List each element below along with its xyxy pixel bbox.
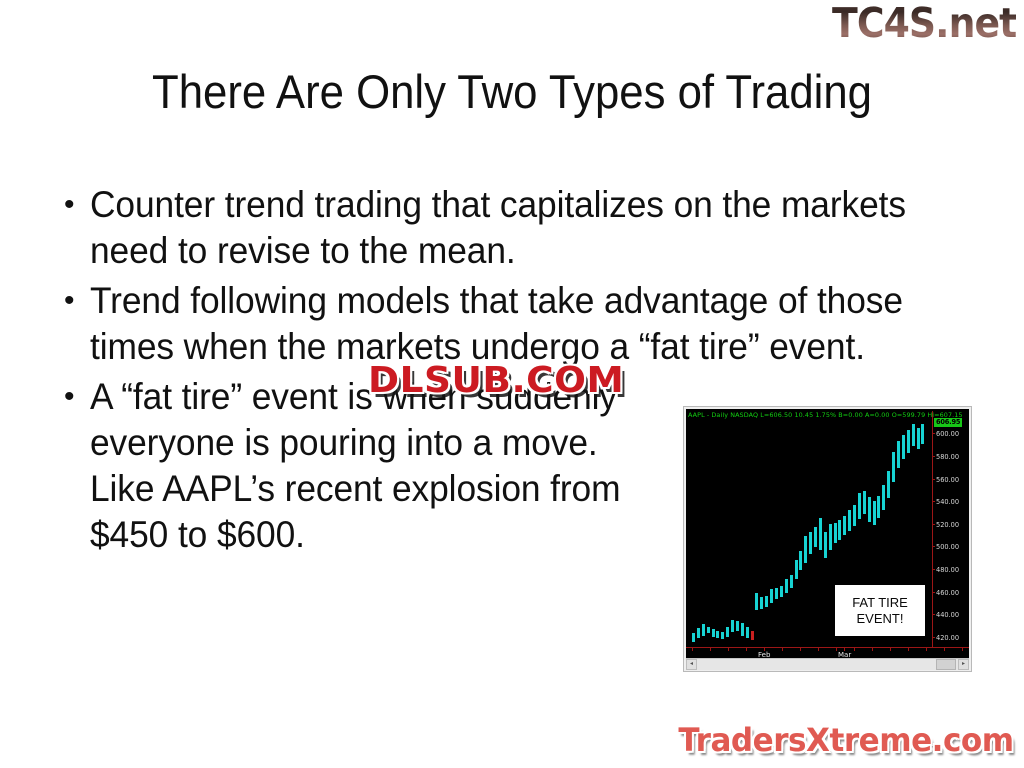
time-axis-minor-tick: [692, 648, 693, 651]
candlestick-bar: [741, 623, 744, 635]
bullet-text: A “fat tire” event is when suddenly ever…: [90, 374, 663, 558]
time-axis-minor-tick: [944, 648, 945, 651]
scroll-right-arrow-icon[interactable]: ▸: [958, 659, 969, 670]
candlestick-bar: [726, 627, 729, 637]
list-item: • Counter trend trading that capitalizes…: [58, 182, 986, 274]
slide-canvas: TC4S.net There Are Only Two Types of Tra…: [0, 0, 1024, 768]
chart-horizontal-scrollbar[interactable]: ◂ ▸: [686, 658, 969, 670]
candlestick-bar: [751, 631, 754, 640]
time-axis-minor-tick: [782, 648, 783, 651]
candlestick-bar: [863, 491, 866, 514]
price-axis-tick: 540.00: [936, 498, 959, 506]
candlestick-bar: [882, 485, 885, 510]
candlestick-bar: [780, 586, 783, 597]
candlestick-bar: [824, 532, 827, 558]
dlsub-watermark: DLSUB.COM: [368, 360, 624, 401]
candlestick-bar: [712, 629, 715, 637]
candlestick-bar: [819, 518, 822, 550]
bullet-marker-icon: •: [58, 374, 90, 420]
candlestick-bar: [892, 452, 895, 483]
time-axis-minor-tick: [836, 648, 837, 651]
candlestick-bar: [809, 532, 812, 555]
price-axis-tick: 500.00: [936, 543, 959, 551]
price-axis-tick: 560.00: [936, 476, 959, 484]
price-axis: 606.95 600.00580.00560.00540.00520.00500…: [932, 411, 969, 647]
candlestick-bar: [843, 516, 846, 535]
candlestick-bar: [829, 524, 832, 550]
candlestick-bar: [868, 497, 871, 522]
candlestick-bar: [907, 430, 910, 453]
time-axis-minor-tick: [962, 648, 963, 651]
price-axis-tick: 600.00: [936, 430, 959, 438]
time-axis-minor-tick: [728, 648, 729, 651]
candlestick-bar: [785, 579, 788, 593]
candlestick-bar: [848, 510, 851, 530]
candlestick-bar: [834, 523, 837, 543]
candlestick-bar: [917, 428, 920, 450]
price-axis-tick: 480.00: [936, 566, 959, 574]
time-axis-tick: [844, 648, 845, 651]
candlestick-bar: [902, 435, 905, 460]
callout-line-2: EVENT!: [857, 611, 904, 627]
candlestick-bar: [897, 441, 900, 468]
candlestick-bar: [765, 596, 768, 607]
bullet-text: Trend following models that take advanta…: [90, 278, 946, 370]
bullet-marker-icon: •: [58, 182, 90, 228]
candlestick-bar: [707, 627, 710, 634]
tc4s-brand-logo: TC4S.net: [832, 0, 1016, 48]
candlestick-bar: [795, 560, 798, 579]
price-axis-tick: 460.00: [936, 589, 959, 597]
page-title: There Are Only Two Types of Trading: [36, 64, 988, 119]
candlestick-bar: [736, 621, 739, 631]
time-axis-minor-tick: [854, 648, 855, 651]
candlestick-bar: [912, 424, 915, 446]
time-axis-minor-tick: [890, 648, 891, 651]
candlestick-bar: [921, 424, 924, 443]
candlestick-bar: [760, 597, 763, 608]
candlestick-bar: [702, 624, 705, 635]
chart-canvas: AAPL - Daily NASDAQ L=606.50 10.45 1.75%…: [686, 409, 969, 647]
time-axis-minor-tick: [710, 648, 711, 651]
candlestick-bar: [877, 496, 880, 519]
candlestick-bar: [716, 631, 719, 638]
candlestick-bar: [873, 501, 876, 525]
time-axis-minor-tick: [908, 648, 909, 651]
callout-line-1: FAT TIRE: [852, 595, 908, 611]
candlestick-bar: [755, 593, 758, 610]
fat-tire-event-callout: FAT TIRE EVENT!: [834, 584, 926, 637]
price-axis-tick: 520.00: [936, 521, 959, 529]
time-axis-minor-tick: [872, 648, 873, 651]
candlestick-bar: [790, 575, 793, 589]
aapl-chart-window[interactable]: AAPL - Daily NASDAQ L=606.50 10.45 1.75%…: [683, 406, 972, 672]
price-axis-tick: 440.00: [936, 611, 959, 619]
scrollbar-thumb[interactable]: [936, 659, 956, 670]
candlestick-bar: [814, 527, 817, 547]
chart-quote-header: AAPL - Daily NASDAQ L=606.50 10.45 1.75%…: [688, 410, 969, 420]
candlestick-bar: [692, 633, 695, 642]
candlestick-bar: [775, 588, 778, 599]
price-axis-tick: 580.00: [936, 453, 959, 461]
candlestick-bar: [721, 632, 724, 639]
candlestick-bar: [887, 471, 890, 498]
candlestick-bar: [853, 505, 856, 527]
time-axis-minor-tick: [818, 648, 819, 651]
candlestick-bar: [697, 628, 700, 638]
time-axis-minor-tick: [800, 648, 801, 651]
candlestick-bar: [858, 493, 861, 519]
list-item: • Trend following models that take advan…: [58, 278, 986, 370]
candlestick-bar: [746, 627, 749, 638]
candlestick-bar: [770, 589, 773, 603]
time-axis-minor-tick: [926, 648, 927, 651]
candlestick-bar: [804, 536, 807, 563]
price-axis-tick: 420.00: [936, 634, 959, 642]
bullet-marker-icon: •: [58, 278, 90, 324]
time-axis-minor-tick: [746, 648, 747, 651]
bullet-text: Counter trend trading that capitalizes o…: [90, 182, 946, 274]
candlestick-bar: [799, 551, 802, 570]
tradersxtreme-footer-logo: TradersXtreme.com: [679, 720, 1014, 760]
scroll-left-arrow-icon[interactable]: ◂: [686, 659, 697, 670]
candlestick-bar: [731, 620, 734, 632]
time-axis-minor-tick: [764, 648, 765, 651]
candlestick-bar: [838, 520, 841, 539]
